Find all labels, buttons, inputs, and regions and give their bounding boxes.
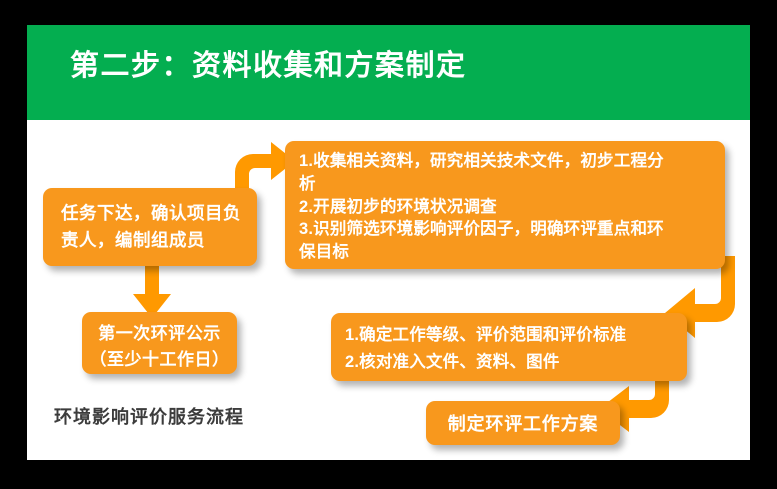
- arrow-task-to-publicity-icon: [131, 260, 173, 318]
- node-determine-grade[interactable]: 1.确定工作等级、评价范围和评价标准 2.核对准入文件、资料、图件: [331, 313, 687, 381]
- node-first-publicity-label: 第一次环评公示 （至少十工作日）: [82, 321, 237, 372]
- flowchart-caption: 环境影响评价服务流程: [54, 403, 244, 429]
- node-data-collection-label: 1.收集相关资料，研究相关技术文件，初步工程分 析 2.开展初步的环境状况调查 …: [299, 150, 713, 264]
- node-task-assignment[interactable]: 任务下达，确认项目负 责人，编制组成员: [43, 188, 257, 266]
- flowchart-canvas: 任务下达，确认项目负 责人，编制组成员 第一次环评公示 （至少十工作日） 1.收…: [27, 120, 750, 460]
- node-work-plan-label: 制定环评工作方案: [448, 410, 598, 436]
- node-work-plan[interactable]: 制定环评工作方案: [426, 401, 620, 445]
- slide-header: 第二步：资料收集和方案制定: [27, 25, 750, 120]
- slide-canvas: 第二步：资料收集和方案制定: [27, 25, 750, 460]
- node-first-publicity[interactable]: 第一次环评公示 （至少十工作日）: [82, 312, 237, 374]
- node-data-collection[interactable]: 1.收集相关资料，研究相关技术文件，初步工程分 析 2.开展初步的环境状况调查 …: [285, 141, 725, 269]
- node-task-assignment-label: 任务下达，确认项目负 责人，编制组成员: [61, 200, 241, 254]
- page-title: 第二步：资料收集和方案制定: [70, 49, 467, 84]
- node-determine-grade-label: 1.确定工作等级、评价范围和评价标准 2.核对准入文件、资料、图件: [345, 322, 687, 375]
